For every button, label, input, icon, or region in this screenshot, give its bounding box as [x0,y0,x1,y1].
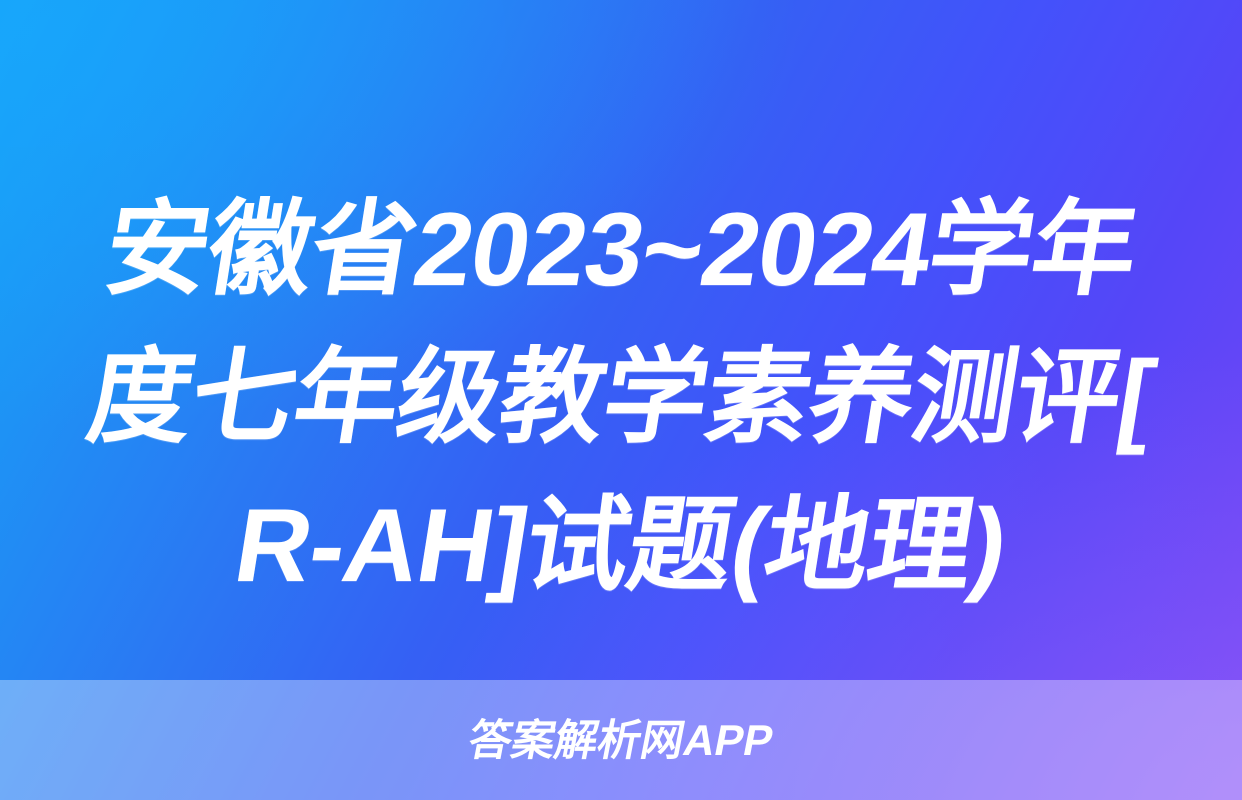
exam-cover-card: 安徽省2023~2024学年 度七年级教学素养测评[ R-AH]试题(地理) 答… [0,0,1242,800]
app-watermark-label: 答案解析网APP [465,720,777,763]
page-title: 安徽省2023~2024学年 度七年级教学素养测评[ R-AH]试题(地理) [0,176,1242,620]
title-line-1: 安徽省2023~2024学年 [74,176,1167,324]
title-line-3: R-AH]试题(地理) [74,472,1167,620]
watermark-band: 答案解析网APP [0,680,1242,800]
title-line-2: 度七年级教学素养测评[ [74,324,1167,472]
